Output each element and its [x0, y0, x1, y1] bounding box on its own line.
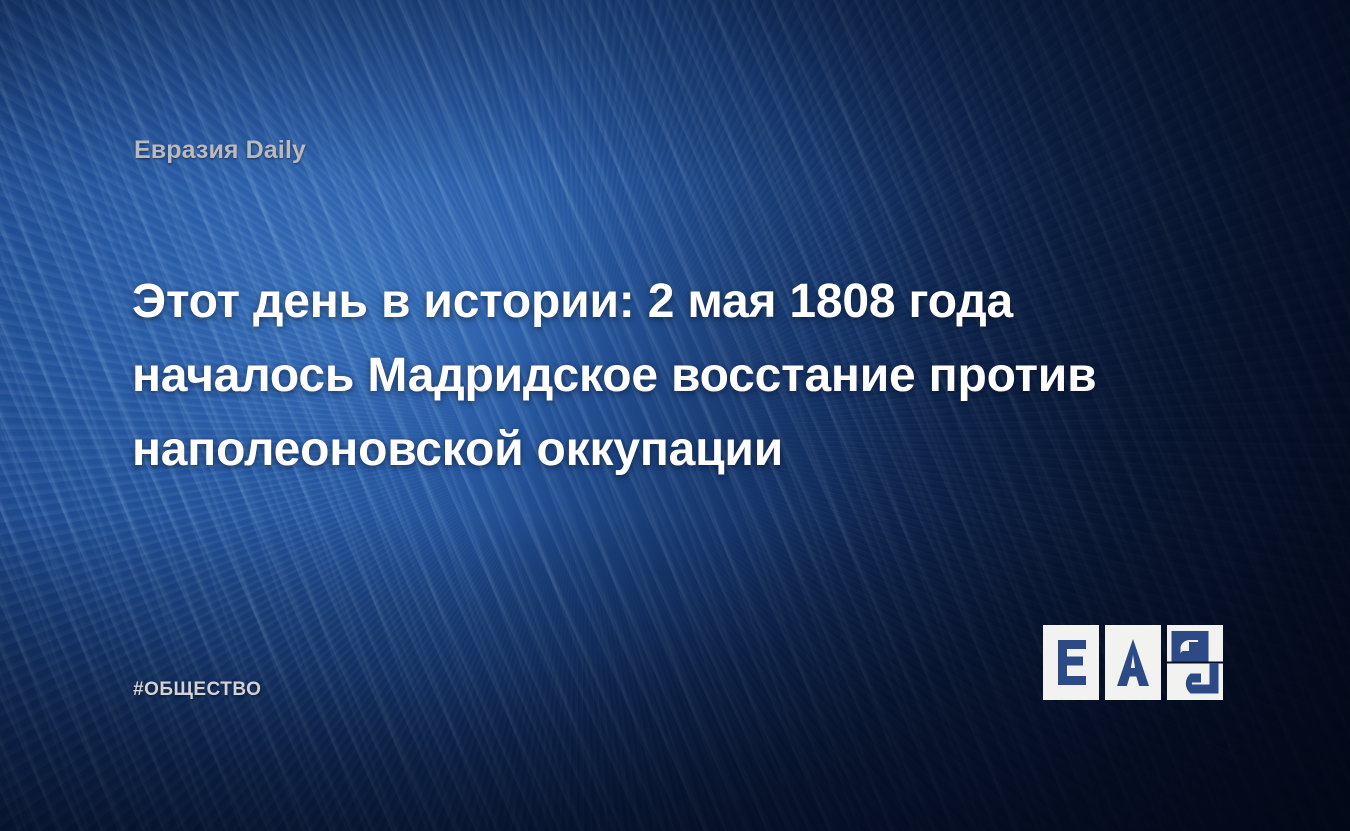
logo-tile-a	[1105, 625, 1161, 700]
brand-wordmark[interactable]: Евразия Daily	[134, 136, 306, 165]
news-share-card: Евразия Daily Этот день в истории: 2 мая…	[0, 0, 1350, 831]
logo-tile-d	[1167, 625, 1223, 700]
card-content: Евразия Daily Этот день в истории: 2 мая…	[0, 0, 1350, 831]
headline: Этот день в истории: 2 мая 1808 года нач…	[132, 265, 1242, 487]
eadaily-logo[interactable]	[1043, 625, 1223, 700]
category-tag[interactable]: #ОБЩЕСТВО	[133, 679, 261, 701]
logo-tile-e	[1043, 625, 1099, 700]
